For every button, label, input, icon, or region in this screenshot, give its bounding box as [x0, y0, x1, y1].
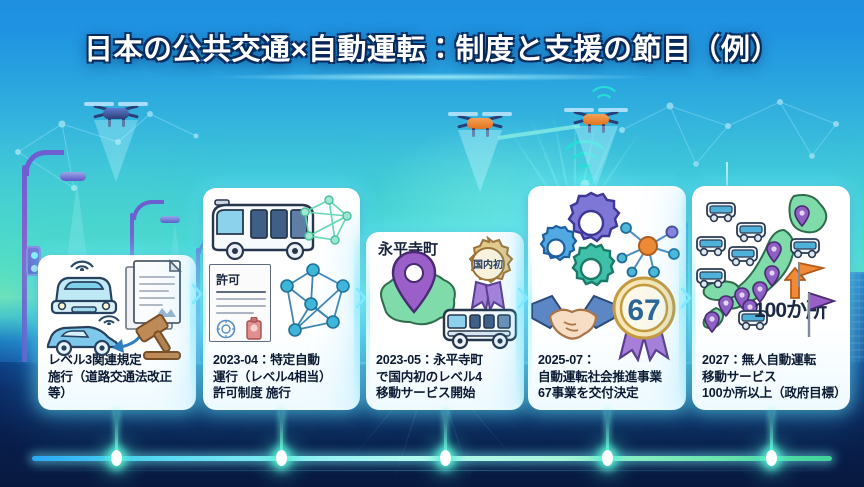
map-pin-icon	[390, 250, 438, 316]
chevron-right-icon	[516, 286, 530, 310]
shuttle-icon	[734, 220, 768, 244]
handshake-icon	[530, 290, 616, 346]
timeline-stem	[115, 410, 118, 452]
milestone-card-2025-07[interactable]: 67 2025-07： 自動運転社会推進事業 67事業を交付決定	[528, 186, 686, 410]
gavel-icon	[132, 311, 190, 363]
timeline-node-2027[interactable]	[766, 450, 777, 466]
timeline-stem	[770, 410, 773, 452]
milestone-card-row: 2020-04： レベル3関連規定 施行（道路交通法改正等）	[0, 0, 864, 487]
flag-icon	[804, 290, 838, 338]
infographic-canvas: 日本の公共交通×自動運転：制度と支援の節目（例）	[0, 0, 864, 487]
card-art-2020-04	[38, 255, 196, 332]
chevron-right-icon	[679, 286, 693, 310]
chevron-right-icon	[354, 286, 368, 310]
network-node-icon	[273, 260, 355, 344]
wifi-signal-icon	[68, 255, 96, 271]
seal-icon	[216, 319, 236, 339]
card-text-2023-05: 2023-05：永平寺町 で国内初のレベル4 移動サービス開始	[366, 348, 524, 410]
shuttle-icon	[726, 244, 760, 268]
chevron-right-icon	[190, 282, 204, 306]
card-text-2027: 2027：無人自動運転 移動サービス 100か所以上（政府目標）	[692, 348, 850, 410]
svg-text:国内初: 国内初	[473, 258, 503, 271]
milestone-card-2023-05[interactable]: 永平寺町 国内初	[366, 232, 524, 410]
separator-glow	[516, 228, 532, 396]
card-art-2023-05: 永平寺町 国内初	[366, 232, 524, 348]
card-art-2027: 100か所	[692, 186, 850, 348]
award-ribbon-icon: 国内初	[458, 236, 518, 312]
timeline-node-2020-04[interactable]	[111, 450, 122, 466]
network-graph-icon	[295, 192, 357, 254]
timeline-stem	[444, 410, 447, 452]
seal-stamp-icon	[244, 317, 264, 341]
timeline-track	[32, 456, 832, 461]
network-node-icon	[612, 214, 682, 280]
timeline-stem	[606, 410, 609, 452]
badge-number: 67	[627, 294, 660, 327]
separator-glow	[190, 250, 206, 390]
timeline-stem	[280, 410, 283, 452]
shuttle-icon	[694, 266, 728, 290]
milestone-card-2023-04[interactable]: 許可	[203, 188, 360, 410]
timeline-node-2023-05[interactable]	[440, 450, 451, 466]
separator-glow	[354, 230, 370, 395]
flag-icon	[796, 260, 826, 288]
milestone-card-2020-04[interactable]: 2020-04： レベル3関連規定 施行（道路交通法改正等）	[38, 255, 196, 410]
card-art-2025-07: 67	[528, 186, 686, 348]
shuttle-icon	[704, 200, 738, 224]
award-badge-icon: 67	[606, 274, 682, 362]
card-text-2023-04: 2023-04：特定自動 運行（レベル4相当） 許可制度 施行	[203, 348, 360, 410]
shuttle-icon	[788, 236, 822, 260]
timeline-node-2025-07[interactable]	[602, 450, 613, 466]
permit-label: 許可	[216, 271, 240, 288]
separator-glow	[679, 222, 695, 398]
bus-icon	[438, 304, 522, 354]
timeline-node-2023-04[interactable]	[276, 450, 287, 466]
shuttle-icon	[694, 234, 728, 258]
permit-document-icon: 許可	[209, 264, 271, 342]
milestone-card-2027[interactable]: 100か所 2027：無人自動運転 移動サービス 100か所以上（政府目標）	[692, 186, 850, 410]
card-art-2023-04: 許可	[203, 188, 360, 348]
